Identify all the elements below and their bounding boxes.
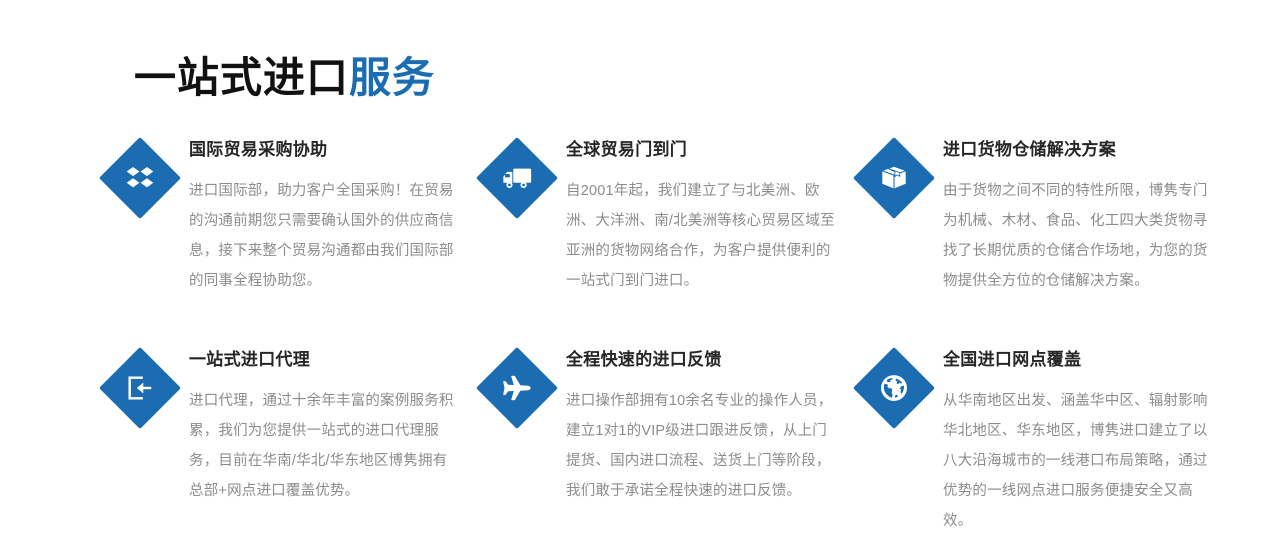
service-card[interactable]: 全球贸易门到门 自2001年起，我们建立了与北美洲、欧洲、大洋洲、南/北美洲等核… — [477, 130, 854, 340]
card-description: 从华南地区出发、涵盖华中区、辐射影响华北地区、华东地区，博隽进口建立了以八大沿海… — [943, 386, 1214, 536]
icon-diamond-badge — [476, 137, 558, 219]
card-title: 国际贸易采购协助 — [189, 138, 461, 162]
page-title-main: 一站式进口 — [134, 54, 349, 101]
service-card[interactable]: 全国进口网点覆盖 从华南地区出发、涵盖华中区、辐射影响华北地区、华东地区，博隽进… — [854, 340, 1230, 536]
card-title: 一站式进口代理 — [189, 348, 461, 372]
service-card[interactable]: 进口货物仓储解决方案 由于货物之间不同的特性所限，博隽专门为机械、木材、食品、化… — [854, 130, 1230, 340]
truck-icon — [501, 163, 533, 193]
card-description: 进口国际部，助力客户全国采购！在贸易的沟通前期您只需要确认国外的供应商信息，接下… — [189, 176, 461, 296]
card-body: 全程快速的进口反馈 进口操作部拥有10余名专业的操作人员，建立1对1的VIP级进… — [566, 340, 838, 506]
service-card[interactable]: 国际贸易采购协助 进口国际部，助力客户全国采购！在贸易的沟通前期您只需要确认国外… — [100, 130, 477, 340]
icon-wrap — [100, 138, 180, 218]
page-title: 一站式进口服务 — [134, 52, 435, 105]
service-card-grid: 国际贸易采购协助 进口国际部，助力客户全国采购！在贸易的沟通前期您只需要确认国外… — [100, 130, 1230, 536]
card-title: 进口货物仓储解决方案 — [943, 138, 1214, 162]
card-body: 一站式进口代理 进口代理，通过十余年丰富的案例服务积累，我们为您提供一站式的进口… — [189, 340, 461, 506]
icon-diamond-badge — [99, 137, 181, 219]
globe-icon — [879, 373, 909, 403]
service-section: 一站式进口服务 国际贸易采购协助 进口 — [0, 0, 1285, 539]
airplane-icon — [501, 373, 533, 403]
page-title-accent: 服务 — [349, 54, 435, 101]
card-title: 全国进口网点覆盖 — [943, 348, 1214, 372]
icon-diamond-badge — [476, 347, 558, 429]
card-body: 全球贸易门到门 自2001年起，我们建立了与北美洲、欧洲、大洋洲、南/北美洲等核… — [566, 130, 838, 296]
icon-wrap — [100, 348, 180, 428]
card-body: 进口货物仓储解决方案 由于货物之间不同的特性所限，博隽专门为机械、木材、食品、化… — [943, 130, 1214, 296]
icon-diamond-badge — [853, 347, 935, 429]
card-description: 进口代理，通过十余年丰富的案例服务积累，我们为您提供一站式的进口代理服务，目前在… — [189, 386, 461, 506]
card-body: 全国进口网点覆盖 从华南地区出发、涵盖华中区、辐射影响华北地区、华东地区，博隽进… — [943, 340, 1214, 536]
card-title: 全球贸易门到门 — [566, 138, 838, 162]
service-card[interactable]: 全程快速的进口反馈 进口操作部拥有10余名专业的操作人员，建立1对1的VIP级进… — [477, 340, 854, 536]
icon-diamond-badge — [853, 137, 935, 219]
import-arrow-icon — [125, 374, 155, 402]
icon-wrap — [477, 138, 557, 218]
icon-wrap — [854, 348, 934, 428]
card-description: 进口操作部拥有10余名专业的操作人员，建立1对1的VIP级进口跟进反馈，从上门提… — [566, 386, 838, 506]
icon-wrap — [854, 138, 934, 218]
card-body: 国际贸易采购协助 进口国际部，助力客户全国采购！在贸易的沟通前期您只需要确认国外… — [189, 130, 461, 296]
card-description: 自2001年起，我们建立了与北美洲、欧洲、大洋洲、南/北美洲等核心贸易区域至亚洲… — [566, 176, 838, 296]
icon-wrap — [477, 348, 557, 428]
service-card[interactable]: 一站式进口代理 进口代理，通过十余年丰富的案例服务积累，我们为您提供一站式的进口… — [100, 340, 477, 536]
dropbox-boxes-icon — [125, 163, 155, 193]
card-description: 由于货物之间不同的特性所限，博隽专门为机械、木材、食品、化工四大类货物寻找了长期… — [943, 176, 1214, 296]
card-title: 全程快速的进口反馈 — [566, 348, 838, 372]
icon-diamond-badge — [99, 347, 181, 429]
package-box-icon — [879, 163, 909, 193]
